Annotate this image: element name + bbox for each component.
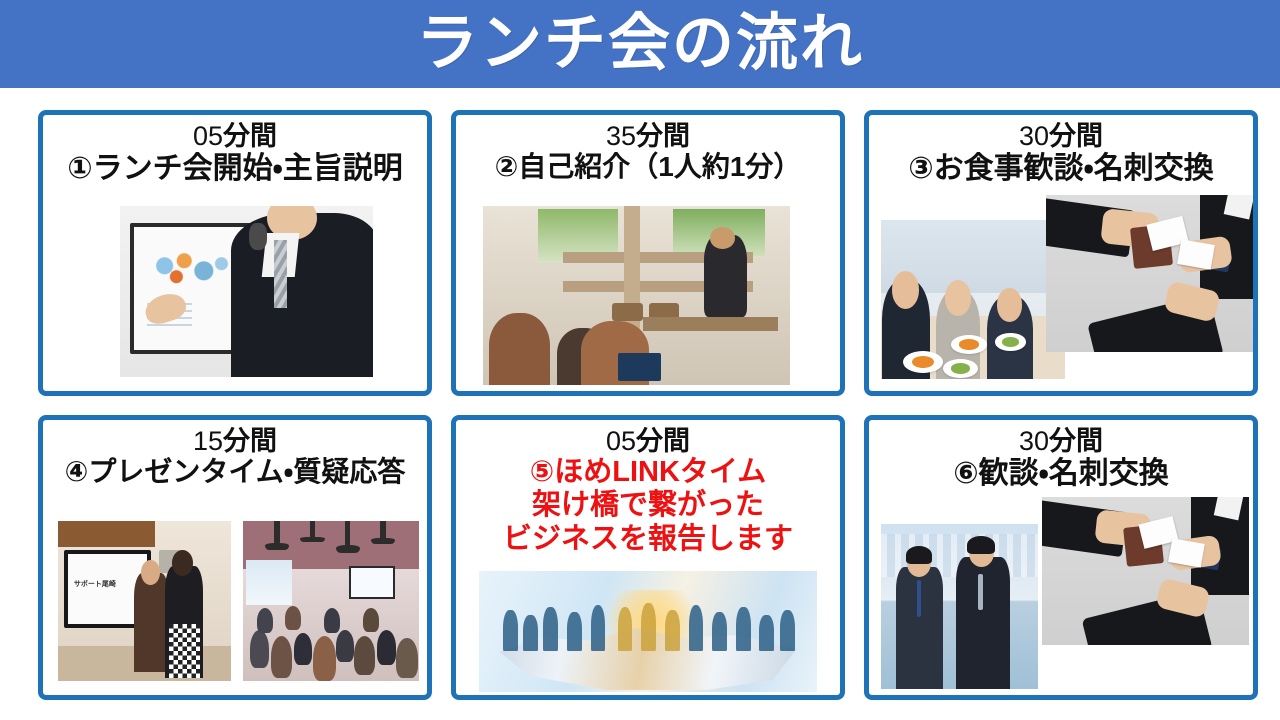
agenda-card-3[interactable]: 30分間 ③お食事歓談・名刺交換 (864, 110, 1258, 396)
photo-people-dining-and-talking (881, 220, 1065, 380)
agenda-card-2[interactable]: 35分間 ②自己紹介（1人約1分） (451, 110, 845, 396)
screen-label: サポート尾崎 (74, 579, 116, 589)
photo-seated-audience-hall (243, 521, 420, 681)
photo-business-card-exchange (1046, 195, 1258, 352)
photo-business-card-exchange (1042, 497, 1249, 646)
agenda-card-4[interactable]: 15分間 ④プレゼンタイム・質疑応答 サポート尾崎 (38, 415, 432, 701)
photo-presenter-with-microphone-and-screen (120, 206, 373, 377)
agenda-card-5[interactable]: 05分間 ⑤ほめLINKタイム 架け橋で繋がった ビジネスを報告します (451, 415, 845, 701)
photo-two-businessmen-outdoors (881, 524, 1038, 689)
card-3-photos (869, 115, 1253, 391)
card-1-photos (43, 115, 427, 391)
photo-handshake-business-silhouettes (479, 571, 817, 692)
slide-root: ランチ会の流れ 05分間 ①ランチ会開始・主旨説明 35分間 ②自己紹介（1人約… (0, 0, 1280, 720)
agenda-card-1[interactable]: 05分間 ①ランチ会開始・主旨説明 (38, 110, 432, 396)
title-banner: ランチ会の流れ (0, 0, 1280, 88)
card-4-photos: サポート尾崎 (43, 420, 427, 696)
agenda-grid: 05分間 ①ランチ会開始・主旨説明 35分間 ②自己紹介（1人約1分） (38, 110, 1258, 700)
photo-self-introduction-in-cafe (483, 206, 790, 385)
card-5-photos (456, 420, 840, 696)
card-6-photos (869, 420, 1253, 696)
agenda-card-6[interactable]: 30分間 ⑥歓談・名刺交換 (864, 415, 1258, 701)
page-title: ランチ会の流れ (416, 13, 864, 75)
card-2-photos (456, 115, 840, 391)
photo-presentation-with-screen: サポート尾崎 (58, 521, 231, 681)
